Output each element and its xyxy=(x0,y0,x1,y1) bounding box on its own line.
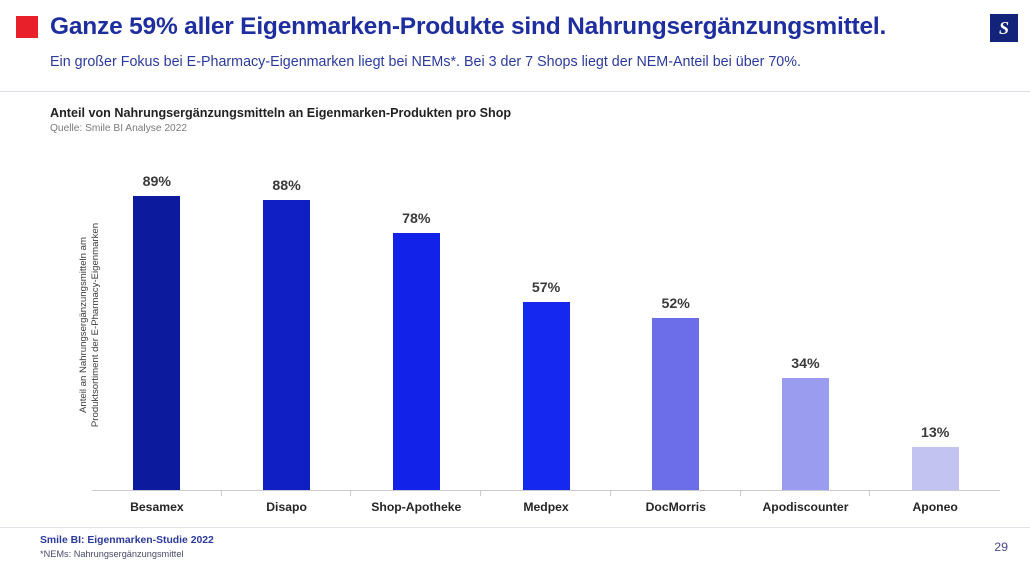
x-axis-tick xyxy=(92,490,222,496)
bar-slot: 57% xyxy=(481,160,611,490)
chart-container: Anteil von Nahrungsergänzungsmitteln an … xyxy=(0,100,1030,520)
bar-slot: 13% xyxy=(870,160,1000,490)
y-axis-label-line1: Anteil an Nahrungsergänzungsmitteln am xyxy=(78,160,90,490)
bar[interactable] xyxy=(523,302,570,490)
bar[interactable] xyxy=(133,196,180,490)
slide-header: Ganze 59% aller Eigenmarken-Produkte sin… xyxy=(0,0,1030,92)
red-accent-square-icon xyxy=(16,16,38,38)
x-axis-ticks xyxy=(92,490,1000,496)
x-axis-category-label: Aponeo xyxy=(870,500,1000,514)
x-axis-category-label: DocMorris xyxy=(611,500,741,514)
x-axis-category-label: Besamex xyxy=(92,500,222,514)
bar-value-label: 89% xyxy=(92,174,222,190)
bar-slot: 78% xyxy=(351,160,481,490)
x-axis-tick xyxy=(870,490,1000,496)
bar-group: 89%88%78%57%52%34%13% xyxy=(92,160,1000,490)
bar-slot: 34% xyxy=(741,160,871,490)
bar-slot: 88% xyxy=(222,160,352,490)
bar-slot: 89% xyxy=(92,160,222,490)
x-axis-tick xyxy=(611,490,741,496)
bar-value-label: 57% xyxy=(481,280,611,296)
header-divider xyxy=(0,91,1030,92)
x-axis-category-label: Apodiscounter xyxy=(741,500,871,514)
bar-slot: 52% xyxy=(611,160,741,490)
brand-logo: S xyxy=(990,14,1018,42)
x-axis-category-label: Disapo xyxy=(222,500,352,514)
y-axis-label: Anteil an Nahrungsergänzungsmitteln am P… xyxy=(40,0,80,160)
slide: Ganze 59% aller Eigenmarken-Produkte sin… xyxy=(0,0,1030,579)
footer-source: Smile BI: Eigenmarken-Studie 2022 xyxy=(40,535,214,546)
bar-value-label: 34% xyxy=(741,356,871,372)
bar[interactable] xyxy=(263,200,310,490)
footer-footnote: *NEMs: Nahrungsergänzungsmittel xyxy=(40,549,184,559)
plot-area: Anteil an Nahrungsergänzungsmitteln am P… xyxy=(92,160,1000,490)
brand-logo-letter: S xyxy=(999,19,1009,37)
page-title: Ganze 59% aller Eigenmarken-Produkte sin… xyxy=(50,14,886,41)
headline-row: Ganze 59% aller Eigenmarken-Produkte sin… xyxy=(16,14,886,41)
x-axis-tick xyxy=(481,490,611,496)
x-axis-category-labels: BesamexDisapoShop-ApothekeMedpexDocMorri… xyxy=(92,500,1000,514)
x-axis-category-label: Shop-Apotheke xyxy=(351,500,481,514)
bar-value-label: 88% xyxy=(222,178,352,194)
page-subtitle: Ein großer Fokus bei E-Pharmacy-Eigenmar… xyxy=(50,54,801,70)
bar-value-label: 13% xyxy=(870,425,1000,441)
footer-divider xyxy=(0,527,1030,528)
x-axis-category-label: Medpex xyxy=(481,500,611,514)
bar[interactable] xyxy=(652,318,699,490)
bar[interactable] xyxy=(782,378,829,490)
bar[interactable] xyxy=(393,233,440,490)
page-number: 29 xyxy=(994,540,1008,554)
x-axis-tick xyxy=(351,490,481,496)
bar[interactable] xyxy=(912,447,959,490)
x-axis-tick xyxy=(222,490,352,496)
x-axis-tick xyxy=(741,490,871,496)
bar-value-label: 52% xyxy=(611,296,741,312)
bar-value-label: 78% xyxy=(351,211,481,227)
chart-title: Anteil von Nahrungsergänzungsmitteln an … xyxy=(50,106,511,120)
